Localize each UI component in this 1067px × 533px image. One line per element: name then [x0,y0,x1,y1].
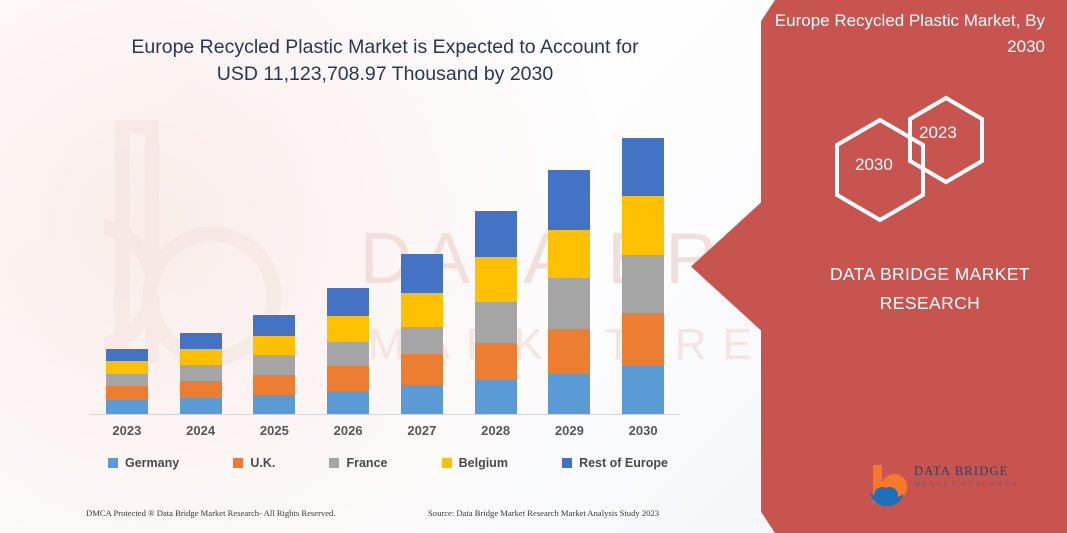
logo-wordmark: DATA BRIDGE MARKET RESEARCH [914,464,1046,488]
stacked-bar [327,288,369,414]
stacked-bar [622,138,664,414]
legend-label: U.K. [250,456,275,470]
bar-segment-belgium [475,257,517,302]
legend-label: Rest of Europe [579,456,668,470]
bar-segment-u-k- [548,329,590,374]
stacked-bar [106,349,148,414]
brand-line-1: DATA BRIDGE MARKET [790,260,1067,289]
legend-label: Germany [125,456,179,470]
bar-segment-france [180,365,222,381]
logo-tagline: MARKET RESEARCH [914,481,1046,488]
x-tick-2029: 2029 [533,423,607,438]
bar-segment-rest-of-europe [622,138,664,196]
bar-segment-belgium [401,293,443,327]
stacked-bar-group [90,110,680,414]
hexagon-outlines [818,92,1058,222]
hexagon-badges: 2030 2023 [818,92,1058,222]
bar-segment-france [475,302,517,342]
legend-swatch-icon [108,458,118,468]
stacked-bar [475,211,517,415]
bar-segment-germany [622,366,664,414]
bar-segment-germany [401,385,443,414]
bar-column-2030 [606,110,680,414]
brand-name: DATA BRIDGE MARKET RESEARCH [790,260,1067,318]
bar-column-2024 [164,110,238,414]
x-axis-line [90,414,680,415]
chart-title-line-1: Europe Recycled Plastic Market is Expect… [60,34,710,61]
bar-segment-u-k- [475,343,517,380]
legend-label: France [346,456,387,470]
x-tick-2025: 2025 [238,423,312,438]
bar-column-2028 [459,110,533,414]
hexagon-label-2030: 2030 [855,155,893,175]
bar-segment-germany [475,380,517,414]
bar-segment-belgium [106,361,148,374]
bar-segment-belgium [180,349,222,365]
bar-segment-rest-of-europe [548,170,590,230]
panel-title-line-2: 2030 [755,34,1045,60]
bar-segment-u-k- [401,354,443,385]
x-axis-tick-labels: 20232024202520262027202820292030 [90,423,680,438]
x-tick-2024: 2024 [164,423,238,438]
panel-title: Europe Recycled Plastic Market, By 2030 [755,8,1045,60]
bar-segment-france [401,327,443,355]
bar-segment-france [327,342,369,367]
bar-segment-belgium [548,230,590,278]
x-tick-2028: 2028 [459,423,533,438]
bar-segment-france [622,255,664,313]
footer-copyright: DMCA Protected ® Data Bridge Market Rese… [86,508,336,518]
legend-swatch-icon [442,458,452,468]
bar-segment-germany [253,395,295,414]
x-tick-2030: 2030 [606,423,680,438]
bar-segment-u-k- [622,313,664,366]
bar-segment-germany [180,398,222,414]
bar-column-2029 [533,110,607,414]
company-logo: DATA BRIDGE MARKET RESEARCH [866,462,1046,510]
bridge-logo-icon [866,462,912,508]
bar-segment-rest-of-europe [401,254,443,292]
footer-source: Source: Data Bridge Market Research Mark… [428,508,659,518]
bar-segment-u-k- [106,386,148,400]
x-tick-2026: 2026 [311,423,385,438]
chart-legend: GermanyU.K.FranceBelgiumRest of Europe [108,456,668,470]
bar-segment-rest-of-europe [180,333,222,349]
bar-segment-germany [548,374,590,414]
bar-segment-germany [327,391,369,414]
legend-swatch-icon [329,458,339,468]
bar-column-2027 [385,110,459,414]
panel-title-line-1: Europe Recycled Plastic Market, By [755,8,1045,34]
bar-segment-france [253,355,295,374]
legend-label: Belgium [459,456,508,470]
stacked-bar [253,315,295,414]
bar-column-2025 [238,110,312,414]
bar-segment-rest-of-europe [106,349,148,361]
chart-plot-area [90,110,680,415]
bar-column-2026 [311,110,385,414]
logo-name: DATA BRIDGE [914,464,1046,479]
x-tick-2027: 2027 [385,423,459,438]
stacked-bar [401,254,443,414]
bar-column-2023 [90,110,164,414]
bar-segment-belgium [622,196,664,256]
legend-swatch-icon [562,458,572,468]
brand-line-2: RESEARCH [790,289,1067,318]
bar-segment-belgium [327,316,369,342]
infographic-canvas: DATA BRIDGE MARKET RESEARCH Europe Recyc… [0,0,1067,533]
bar-segment-france [106,374,148,387]
bar-segment-germany [106,400,148,414]
bar-segment-rest-of-europe [475,211,517,258]
bar-segment-france [548,278,590,329]
bar-segment-u-k- [180,381,222,398]
stacked-bar [548,170,590,414]
legend-item-germany[interactable]: Germany [108,456,179,470]
chart-title-line-2: USD 11,123,708.97 Thousand by 2030 [60,61,710,88]
legend-item-belgium[interactable]: Belgium [442,456,508,470]
bar-segment-u-k- [253,375,295,395]
bar-segment-rest-of-europe [327,288,369,316]
x-tick-2023: 2023 [90,423,164,438]
legend-item-france[interactable]: France [329,456,387,470]
bar-segment-belgium [253,336,295,355]
legend-swatch-icon [233,458,243,468]
page-title: Europe Recycled Plastic Market is Expect… [60,34,710,88]
legend-item-rest-of-europe[interactable]: Rest of Europe [562,456,668,470]
bar-segment-u-k- [327,366,369,391]
hexagon-label-2023: 2023 [919,123,957,143]
stacked-bar [180,333,222,414]
bar-segment-rest-of-europe [253,315,295,336]
legend-item-u-k-[interactable]: U.K. [233,456,275,470]
